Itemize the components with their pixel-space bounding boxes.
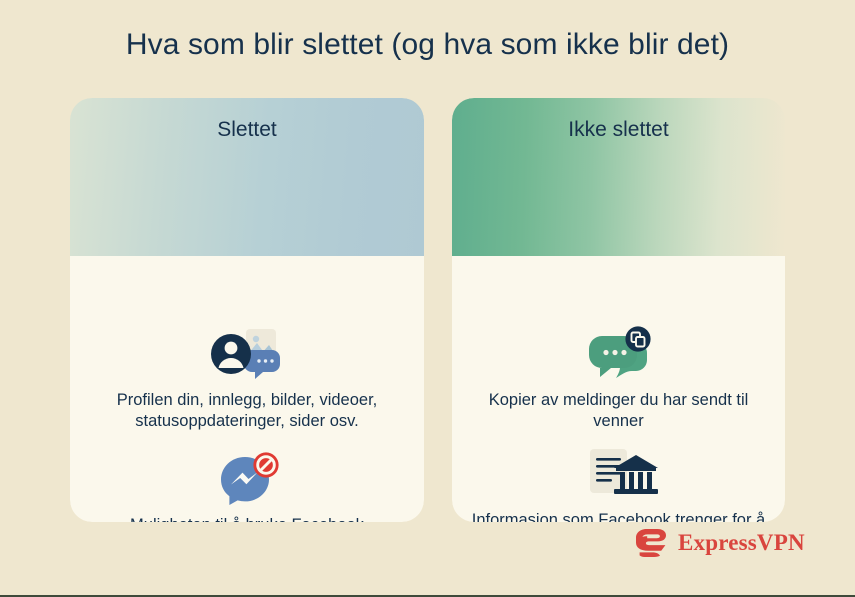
card-deleted-header: Slettet xyxy=(70,98,424,258)
list-item-text: Profilen din, innlegg, bilder, videoer, … xyxy=(88,390,407,432)
document-courthouse-icon xyxy=(574,446,664,504)
expressvpn-e-mark-icon xyxy=(634,528,668,558)
card-deleted-header-label: Slettet xyxy=(70,118,424,142)
card-not-deleted-header: Ikke slettet xyxy=(452,98,785,258)
card-not-deleted: Ikke slettet xyxy=(452,98,785,522)
list-item-text: Muligheten til å bruke Facebook Messenge… xyxy=(88,515,407,522)
list-item-text: Informasjon som Facebook trenger for å o… xyxy=(469,510,769,522)
card-deleted: Slettet xyxy=(70,98,424,522)
page-title: Hva som blir slettet (og hva som ikke bl… xyxy=(0,28,855,62)
list-item-text: Kopier av meldinger du har sendt til ven… xyxy=(469,390,769,432)
expressvpn-logo-text: ExpressVPN xyxy=(678,530,805,556)
chat-copy-icon xyxy=(574,326,664,384)
list-item: Informasjon som Facebook trenger for å o… xyxy=(452,446,785,522)
list-item: Kopier av meldinger du har sendt til ven… xyxy=(452,326,785,432)
list-item: Profilen din, innlegg, bilder, videoer, … xyxy=(70,326,424,432)
card-not-deleted-body: Kopier av meldinger du har sendt til ven… xyxy=(452,256,785,522)
card-not-deleted-header-label: Ikke slettet xyxy=(452,118,785,142)
list-item: Muligheten til å bruke Facebook Messenge… xyxy=(70,451,424,522)
messenger-blocked-icon xyxy=(202,451,292,509)
card-deleted-body: Profilen din, innlegg, bilder, videoer, … xyxy=(70,256,424,522)
profile-photo-message-icon xyxy=(202,326,292,384)
expressvpn-logo: ExpressVPN xyxy=(634,528,805,558)
